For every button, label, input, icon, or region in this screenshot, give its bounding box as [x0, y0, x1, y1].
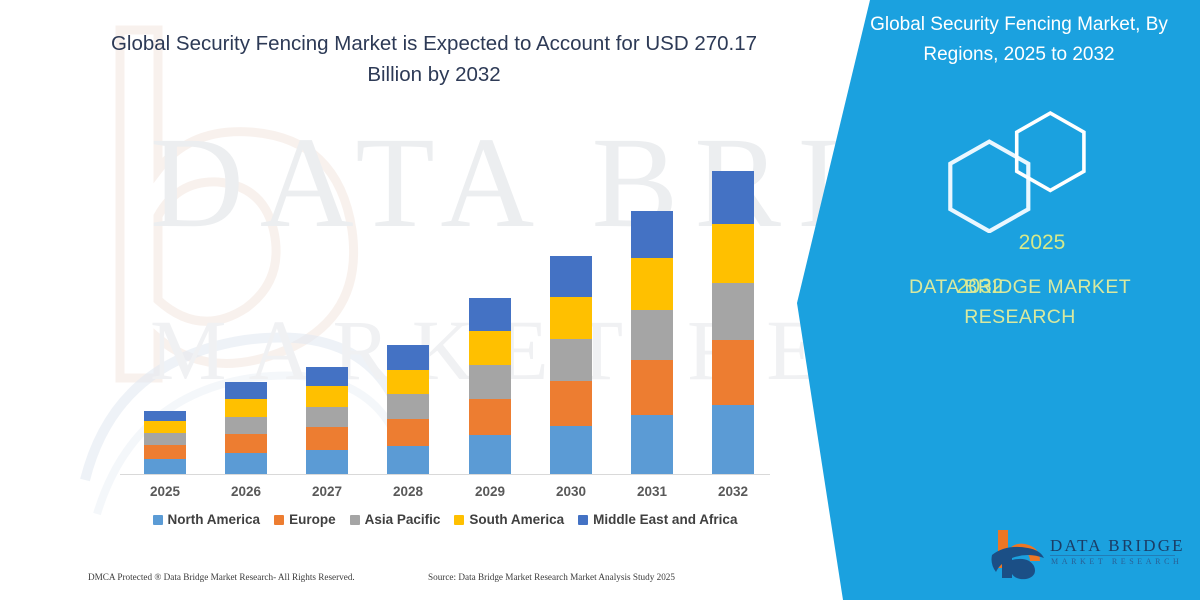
x-axis-label-2027: 2027	[306, 484, 348, 499]
bar-segment-2030-europe	[550, 381, 592, 426]
bar-segment-2025-asia-pacific	[144, 433, 186, 445]
bar-segment-2027-middle-east-and-africa	[306, 367, 348, 386]
bar-segment-2032-asia-pacific	[712, 283, 754, 340]
footer-source: Source: Data Bridge Market Research Mark…	[428, 572, 675, 582]
footer-copyright: DMCA Protected ® Data Bridge Market Rese…	[88, 572, 355, 582]
logo-divider	[1050, 555, 1175, 556]
bar-segment-2030-south-america	[550, 297, 592, 340]
x-axis-label-2025: 2025	[144, 484, 186, 499]
bar-segment-2026-middle-east-and-africa	[225, 382, 267, 399]
logo-mark-icon	[988, 528, 1048, 580]
panel-title: Global Security Fencing Market, By Regio…	[845, 10, 1193, 70]
x-axis-labels: 20252026202720282029203020312032	[120, 484, 770, 502]
x-axis-line	[120, 474, 770, 475]
bar-2031	[631, 211, 673, 474]
bar-segment-2025-europe	[144, 445, 186, 459]
legend-item-middle-east-and-africa[interactable]: Middle East and Africa	[578, 512, 737, 527]
bar-segment-2030-asia-pacific	[550, 339, 592, 381]
hexagon-2025-label: 2025	[1002, 231, 1082, 255]
bar-segment-2028-europe	[387, 419, 429, 446]
bar-2025	[144, 411, 186, 474]
bar-2028	[387, 345, 429, 474]
bar-segment-2028-asia-pacific	[387, 394, 429, 419]
legend-swatch-icon	[454, 515, 464, 525]
bar-segment-2029-south-america	[469, 331, 511, 365]
bar-segment-2028-north-america	[387, 446, 429, 474]
legend-item-south-america[interactable]: South America	[454, 512, 564, 527]
legend-swatch-icon	[578, 515, 588, 525]
bar-segment-2029-north-america	[469, 435, 511, 474]
page-title: Global Security Fencing Market is Expect…	[96, 28, 772, 90]
bar-segment-2027-south-america	[306, 386, 348, 407]
x-axis-label-2028: 2028	[387, 484, 429, 499]
bar-segment-2032-europe	[712, 340, 754, 405]
legend-swatch-icon	[153, 515, 163, 525]
legend-item-asia-pacific[interactable]: Asia Pacific	[350, 512, 441, 527]
x-axis-label-2029: 2029	[469, 484, 511, 499]
bar-segment-2031-middle-east-and-africa	[631, 211, 673, 258]
bar-segment-2029-asia-pacific	[469, 365, 511, 399]
bar-segment-2026-europe	[225, 434, 267, 453]
bar-segment-2031-asia-pacific	[631, 310, 673, 360]
bar-2030	[550, 256, 592, 474]
brand-line-1: DATA BRIDGE MARKET	[860, 272, 1180, 302]
legend-item-europe[interactable]: Europe	[274, 512, 336, 527]
bar-segment-2030-north-america	[550, 426, 592, 474]
infographic-canvas: DATA BRIDGE MARKET RESEARCH Global Secur…	[0, 0, 1200, 600]
bar-segment-2025-south-america	[144, 421, 186, 433]
brand-name: DATA BRIDGE MARKET RESEARCH	[860, 272, 1180, 332]
bar-segment-2027-asia-pacific	[306, 407, 348, 427]
brand-line-2: RESEARCH	[860, 302, 1180, 332]
bar-segment-2032-south-america	[712, 224, 754, 283]
bar-2027	[306, 367, 348, 474]
bar-segment-2025-north-america	[144, 459, 186, 474]
x-axis-label-2031: 2031	[631, 484, 673, 499]
bar-segment-2029-europe	[469, 399, 511, 435]
bar-segment-2028-south-america	[387, 370, 429, 394]
legend-item-north-america[interactable]: North America	[153, 512, 261, 527]
legend-swatch-icon	[274, 515, 284, 525]
bar-segment-2032-middle-east-and-africa	[712, 171, 754, 224]
bar-2029	[469, 298, 511, 474]
legend-label: Middle East and Africa	[593, 512, 737, 527]
legend-label: North America	[168, 512, 261, 527]
legend-label: South America	[469, 512, 564, 527]
bar-segment-2026-south-america	[225, 399, 267, 417]
x-axis-label-2026: 2026	[225, 484, 267, 499]
bar-segment-2030-middle-east-and-africa	[550, 256, 592, 297]
logo-name-primary: DATA BRIDGE	[1050, 536, 1185, 556]
logo-name-secondary: MARKET RESEARCH	[1051, 557, 1182, 566]
x-axis-label-2032: 2032	[712, 484, 754, 499]
hexagon-badges: 2032 2025	[920, 98, 1120, 233]
bar-segment-2029-middle-east-and-africa	[469, 298, 511, 331]
chart-legend: North AmericaEuropeAsia PacificSouth Ame…	[105, 512, 785, 527]
bar-segment-2028-middle-east-and-africa	[387, 345, 429, 370]
bar-segment-2031-south-america	[631, 258, 673, 310]
footer: DMCA Protected ® Data Bridge Market Rese…	[0, 566, 800, 588]
bar-segment-2026-north-america	[225, 453, 267, 474]
bar-segment-2027-north-america	[306, 450, 348, 474]
bar-2032	[712, 171, 754, 474]
bar-segment-2026-asia-pacific	[225, 417, 267, 434]
bar-segment-2031-europe	[631, 360, 673, 415]
bar-segment-2031-north-america	[631, 415, 673, 474]
stacked-bar-chart	[120, 150, 770, 475]
legend-label: Asia Pacific	[365, 512, 441, 527]
bar-segment-2032-north-america	[712, 405, 754, 474]
hexagon-2025-outline	[1017, 113, 1084, 190]
company-logo: DATA BRIDGE MARKET RESEARCH	[988, 528, 1188, 584]
bar-segment-2025-middle-east-and-africa	[144, 411, 186, 421]
legend-label: Europe	[289, 512, 336, 527]
bar-2026	[225, 382, 267, 474]
x-axis-label-2030: 2030	[550, 484, 592, 499]
bar-segment-2027-europe	[306, 427, 348, 450]
legend-swatch-icon	[350, 515, 360, 525]
